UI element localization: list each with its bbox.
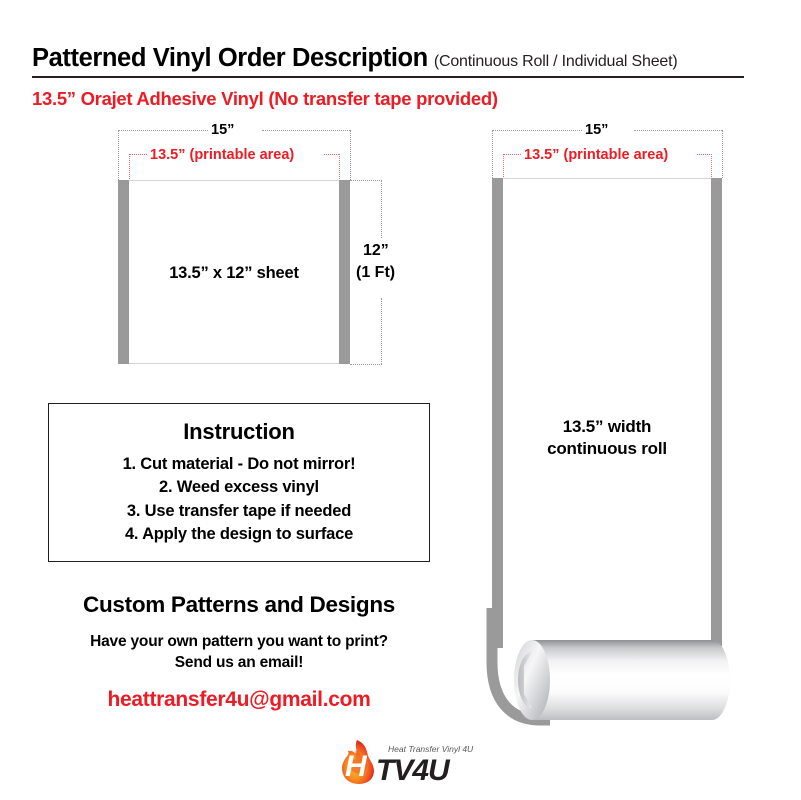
sheet-width-tick-right [350, 130, 351, 180]
sheet-height-line-bottom [381, 298, 382, 364]
instruction-list: 1. Cut material - Do not mirror! 2. Weed… [49, 453, 429, 547]
roll-width-tick-right [722, 130, 723, 178]
roll-printable-line-right [697, 154, 712, 155]
sheet-printable-tick-right [339, 154, 340, 181]
instruction-step: 3. Use transfer tape if needed [49, 500, 429, 523]
custom-patterns-heading: Custom Patterns and Designs [34, 592, 444, 618]
roll-printable-tick-right [711, 154, 712, 179]
roll-caption-line2: continuous roll [492, 438, 722, 460]
custom-patterns-subtext: Have your own pattern you want to print?… [34, 631, 444, 674]
sheet-width-line-right [262, 130, 350, 131]
header: Patterned Vinyl Order Description (Conti… [32, 44, 744, 110]
product-subtitle: 13.5” Orajet Adhesive Vinyl (No transfer… [32, 88, 744, 110]
page-title-main: Patterned Vinyl Order Description [32, 44, 428, 73]
sheet-printable-label: 13.5” (printable area) [150, 147, 294, 163]
htv4u-logo: H Heat Transfer Vinyl 4U TV4U [336, 736, 486, 788]
instruction-step: 4. Apply the design to surface [49, 523, 429, 546]
roll-cylinder-illustration [466, 608, 756, 738]
sheet-caption: 13.5” x 12” sheet [118, 264, 350, 283]
roll-left-margin-strip [492, 178, 503, 648]
roll-caption-line1: 13.5” width [492, 416, 722, 438]
instruction-step: 2. Weed excess vinyl [49, 476, 429, 499]
roll-width-tick-left [492, 130, 493, 178]
instruction-step: 1. Cut material - Do not mirror! [49, 453, 429, 476]
roll-right-margin-strip [711, 178, 722, 646]
logo-tagline: Heat Transfer Vinyl 4U [388, 744, 474, 754]
sheet-height-line-top [381, 180, 382, 238]
sheet-height-label-feet: (1 Ft) [356, 264, 395, 282]
sheet-printable-line-right [324, 154, 339, 155]
order-description-graphic: Patterned Vinyl Order Description (Conti… [0, 0, 801, 800]
contact-email[interactable]: heattransfer4u@gmail.com [34, 688, 444, 712]
sheet-width-label: 15” [211, 122, 234, 138]
sheet-width-tick-left [118, 130, 119, 180]
roll-width-line-right [634, 130, 722, 131]
roll-printable-line-left [503, 154, 521, 155]
roll-printable-tick-left [503, 154, 504, 179]
instruction-title: Instruction [49, 419, 429, 445]
sheet-height-label-inches: 12” [363, 242, 389, 260]
sheet-diagram: 13.5” x 12” sheet [118, 180, 350, 364]
roll-width-label: 15” [585, 122, 608, 138]
title-divider [32, 76, 744, 78]
roll-caption: 13.5” width continuous roll [492, 416, 722, 461]
roll-diagram: 13.5” width continuous roll [492, 178, 722, 673]
page-title-subtitle: (Continuous Roll / Individual Sheet) [434, 53, 678, 71]
sheet-printable-tick-left [129, 154, 130, 181]
logo-flame-letter: H [345, 750, 368, 783]
instruction-box: Instruction 1. Cut material - Do not mir… [48, 403, 430, 562]
custom-patterns-subtext-line1: Have your own pattern you want to print? [34, 631, 444, 652]
sheet-height-tick-top [350, 180, 382, 181]
roll-width-line-left [492, 130, 582, 131]
logo-svg: H Heat Transfer Vinyl 4U TV4U [336, 736, 486, 788]
custom-patterns-section: Custom Patterns and Designs Have your ow… [34, 592, 444, 712]
logo-wordmark: TV4U [376, 754, 451, 787]
sheet-height-tick-bottom [350, 364, 382, 365]
custom-patterns-subtext-line2: Send us an email! [34, 652, 444, 673]
sheet-printable-line-left [129, 154, 147, 155]
page-title: Patterned Vinyl Order Description (Conti… [32, 44, 744, 73]
roll-cylinder-body [532, 640, 730, 720]
sheet-width-line-left [118, 130, 208, 131]
roll-printable-label: 13.5” (printable area) [524, 147, 668, 163]
